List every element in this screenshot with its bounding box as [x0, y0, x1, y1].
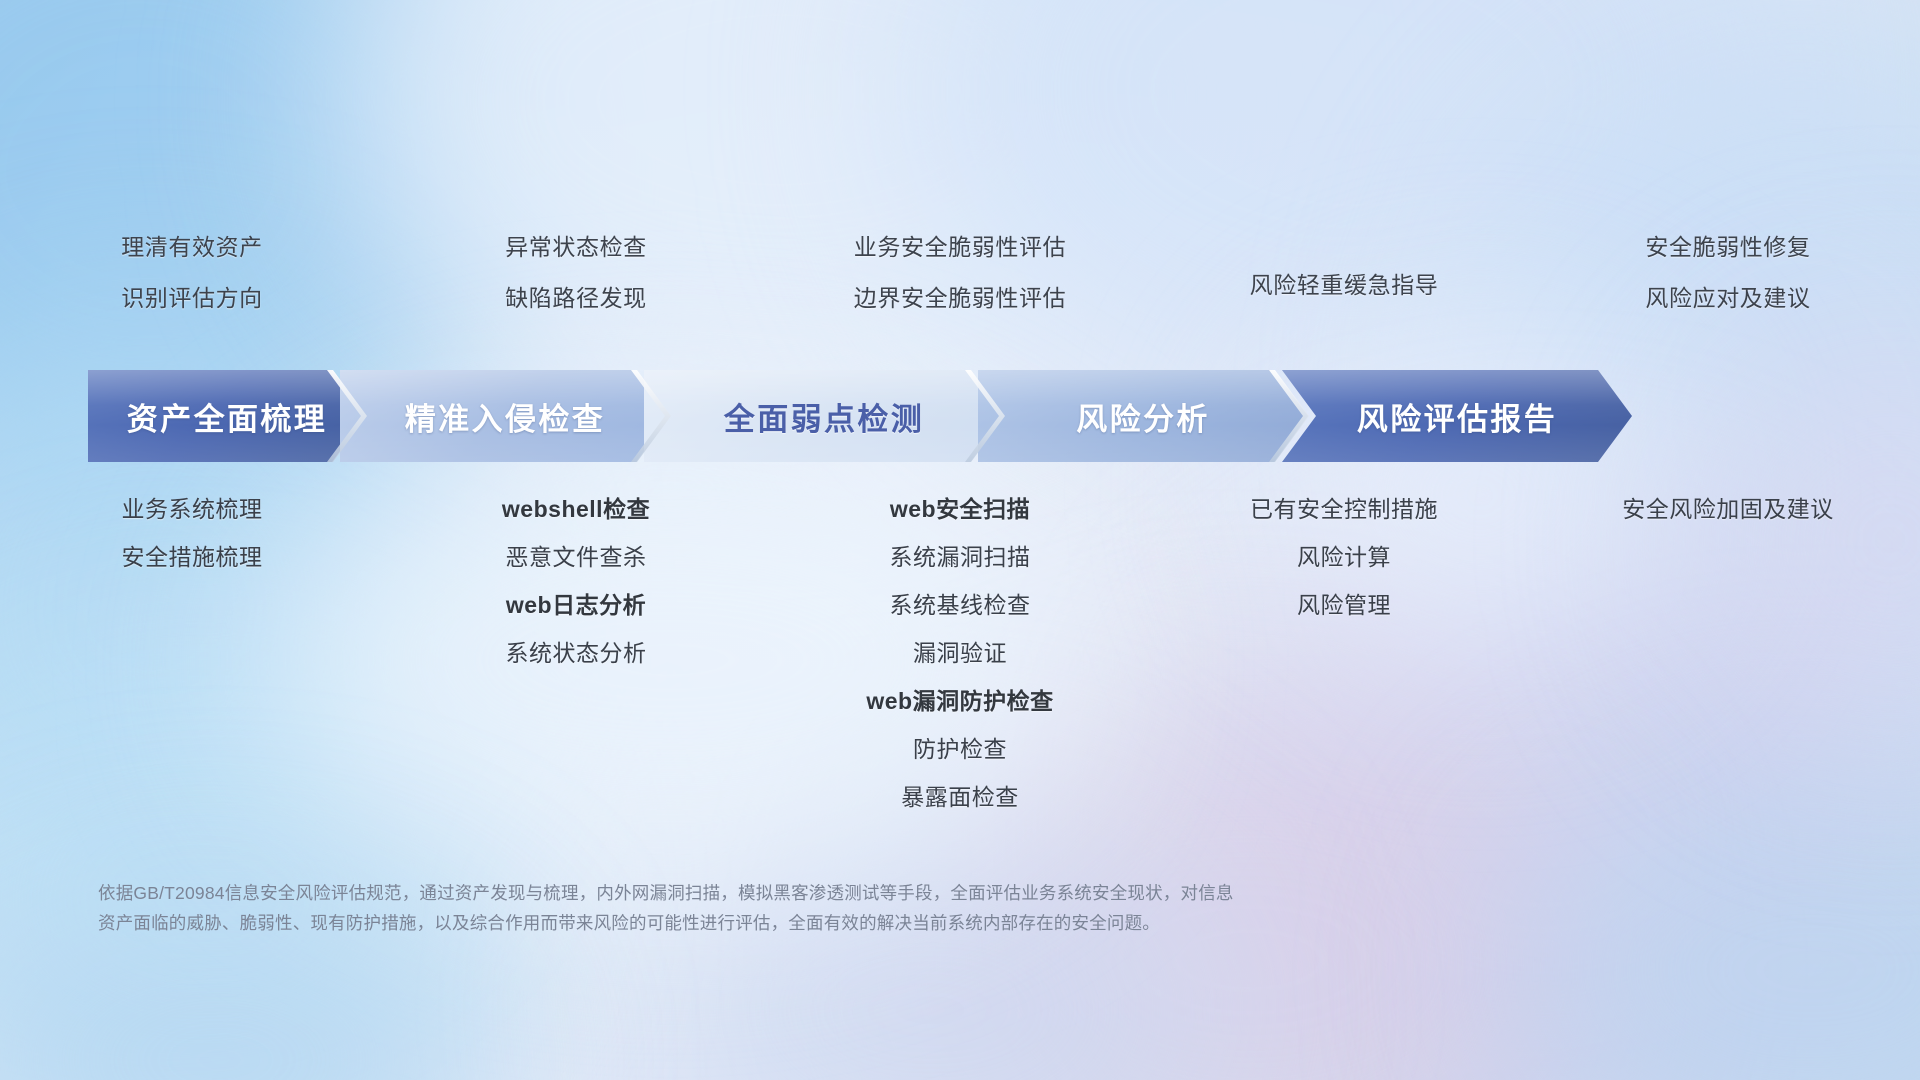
stage-arrow-label: 精准入侵检查	[405, 394, 605, 439]
top-label: 安全脆弱性修复	[1536, 236, 1920, 259]
detail-item: 系统基线检查	[768, 594, 1152, 617]
top-label: 异常状态检查	[384, 236, 768, 259]
detail-list-stage-intrusion-check: webshell检查 恶意文件查杀 web日志分析 系统状态分析	[384, 498, 768, 665]
detail-list-stage-weakness-detection: web安全扫描 系统漏洞扫描 系统基线检查 漏洞验证 web漏洞防护检查 防护检…	[768, 498, 1152, 809]
detail-item: webshell检查	[384, 498, 768, 521]
top-labels-stage-risk-report: 安全脆弱性修复 风险应对及建议	[1536, 236, 1920, 310]
top-labels-stage-asset-inventory: 理清有效资产 识别评估方向	[0, 236, 384, 310]
detail-item: 系统漏洞扫描	[768, 546, 1152, 569]
top-labels-stage-intrusion-check: 异常状态检查 缺陷路径发现	[384, 236, 768, 310]
stage-arrow-label: 全面弱点检测	[724, 394, 924, 439]
detail-item: web日志分析	[384, 594, 768, 617]
detail-item: 恶意文件查杀	[384, 546, 768, 569]
stage-arrow-label: 资产全面梳理	[127, 394, 327, 439]
detail-item: 业务系统梳理	[0, 498, 384, 521]
stage-arrow-intrusion-check[interactable]: 精准入侵检查	[340, 370, 670, 462]
detail-list-stage-asset-inventory: 业务系统梳理 安全措施梳理	[0, 498, 384, 569]
detail-item: 漏洞验证	[768, 642, 1152, 665]
top-labels-stage-weakness-detection: 业务安全脆弱性评估 边界安全脆弱性评估	[768, 236, 1152, 310]
top-label: 风险轻重缓急指导	[1152, 274, 1536, 297]
detail-item: 风险计算	[1152, 546, 1536, 569]
stage-arrow-weakness-detection[interactable]: 全面弱点检测	[644, 370, 1004, 462]
stage-arrow-label: 风险分析	[1076, 394, 1210, 439]
stage-arrow-asset-inventory[interactable]: 资产全面梳理	[88, 370, 366, 462]
detail-item: 已有安全控制措施	[1152, 498, 1536, 521]
detail-list-stage-risk-report: 安全风险加固及建议	[1536, 498, 1920, 521]
top-label: 风险应对及建议	[1536, 287, 1920, 310]
top-label: 识别评估方向	[0, 287, 384, 310]
process-flow-diagram: 理清有效资产 识别评估方向 异常状态检查 缺陷路径发现 业务安全脆弱性评估 边界…	[0, 0, 1920, 1080]
top-label: 缺陷路径发现	[384, 287, 768, 310]
stage-arrow-label: 风险评估报告	[1357, 394, 1557, 439]
stage-detail-lists: 业务系统梳理 安全措施梳理 webshell检查 恶意文件查杀 web日志分析 …	[0, 498, 1920, 809]
top-labels-stage-risk-analysis: 风险轻重缓急指导	[1152, 236, 1536, 310]
stage-arrow-risk-report[interactable]: 风险评估报告	[1282, 370, 1632, 462]
footnote-line: 资产面临的威胁、脆弱性、现有防护措施，以及综合作用而带来风险的可能性进行评估，全…	[98, 908, 1618, 938]
detail-item: web漏洞防护检查	[768, 690, 1152, 713]
top-label: 理清有效资产	[0, 236, 384, 259]
detail-item: 安全措施梳理	[0, 546, 384, 569]
detail-item: 暴露面检查	[768, 786, 1152, 809]
detail-item: 安全风险加固及建议	[1536, 498, 1920, 521]
detail-item: 防护检查	[768, 738, 1152, 761]
stage-arrow-band: 资产全面梳理 精准入侵检查 全面弱点检测 风险分析 风险评估报告	[88, 370, 1878, 462]
stage-arrow-risk-analysis[interactable]: 风险分析	[978, 370, 1308, 462]
top-label: 边界安全脆弱性评估	[768, 287, 1152, 310]
detail-item: 风险管理	[1152, 594, 1536, 617]
detail-item: 系统状态分析	[384, 642, 768, 665]
detail-item: web安全扫描	[768, 498, 1152, 521]
detail-list-stage-risk-analysis: 已有安全控制措施 风险计算 风险管理	[1152, 498, 1536, 617]
footnote-paragraph: 依据GB/T20984信息安全风险评估规范，通过资产发现与梳理，内外网漏洞扫描，…	[98, 878, 1618, 938]
top-labels-row: 理清有效资产 识别评估方向 异常状态检查 缺陷路径发现 业务安全脆弱性评估 边界…	[0, 236, 1920, 310]
footnote-line: 依据GB/T20984信息安全风险评估规范，通过资产发现与梳理，内外网漏洞扫描，…	[98, 878, 1618, 908]
top-label: 业务安全脆弱性评估	[768, 236, 1152, 259]
